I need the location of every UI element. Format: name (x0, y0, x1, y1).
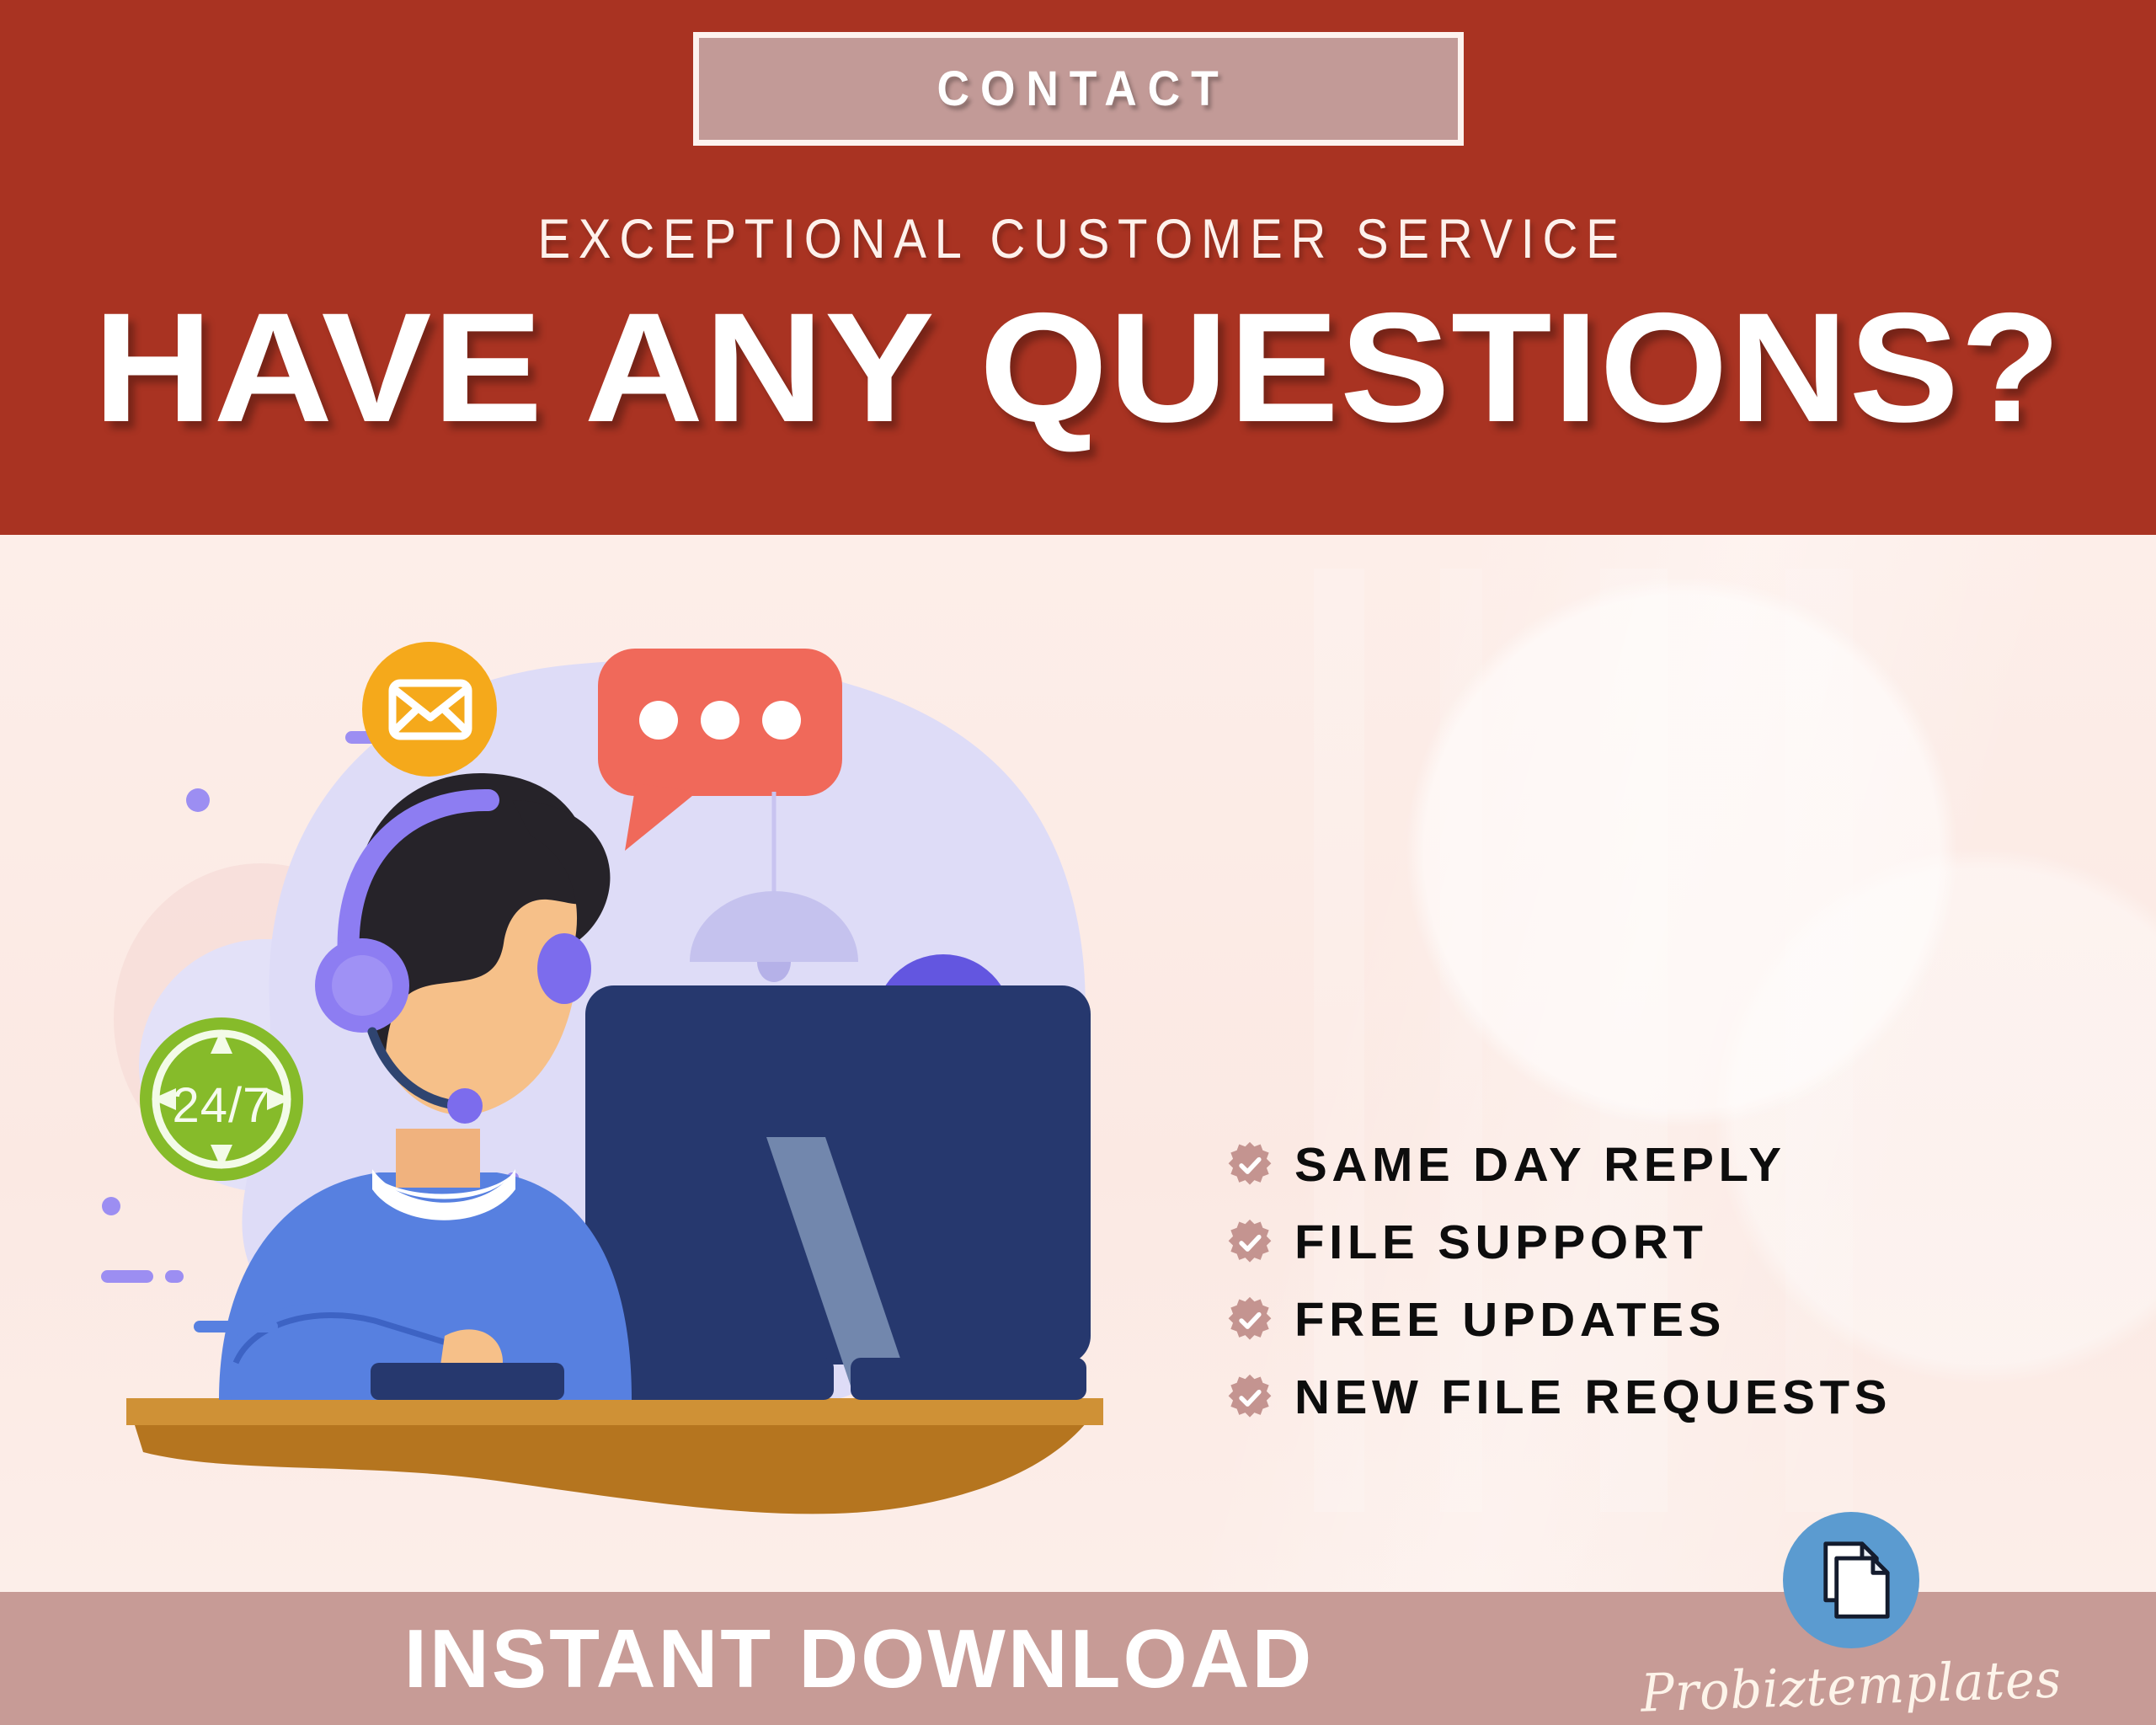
envelope-badge (362, 642, 497, 777)
check-badge-icon (1225, 1140, 1274, 1189)
feature-item: FREE UPDATES (1225, 1292, 1880, 1348)
check-badge-icon (1225, 1218, 1274, 1267)
page-title: HAVE ANY QUESTIONS? (93, 291, 2062, 446)
feature-label: FILE SUPPORT (1294, 1215, 1707, 1270)
feature-item: NEW FILE REQUESTS (1225, 1370, 1880, 1425)
check-badge-icon (1225, 1295, 1274, 1344)
monitor (585, 985, 1091, 1400)
clock-badge: 24/7 (140, 1017, 303, 1181)
main-content: 24/7 (0, 535, 2156, 1592)
header-subtitle: EXCEPTIONAL CUSTOMER SERVICE (530, 206, 1627, 270)
feature-label: NEW FILE REQUESTS (1294, 1370, 1892, 1425)
feature-label: SAME DAY REPLY (1294, 1137, 1786, 1193)
check-badge-icon (1225, 1373, 1274, 1422)
contact-badge: CONTACT (693, 32, 1464, 146)
feature-item: FILE SUPPORT (1225, 1215, 1880, 1270)
documents-icon (1806, 1535, 1897, 1626)
brand-name: Probiztemplates (1640, 1648, 2063, 1723)
logo-circle (1783, 1512, 1919, 1648)
contact-badge-label: CONTACT (926, 61, 1230, 117)
header-banner: CONTACT EXCEPTIONAL CUSTOMER SERVICE HAV… (0, 0, 2156, 535)
support-illustration: 24/7 (93, 547, 1145, 1541)
brand-logo: Probiztemplates (1630, 1512, 2073, 1717)
svg-text:24/7: 24/7 (173, 1078, 271, 1133)
feature-label: FREE UPDATES (1294, 1292, 1726, 1348)
feature-item: SAME DAY REPLY (1225, 1137, 1880, 1193)
feature-list: SAME DAY REPLY FILE SUPPORT FREE UPDATES… (1225, 1137, 1880, 1425)
